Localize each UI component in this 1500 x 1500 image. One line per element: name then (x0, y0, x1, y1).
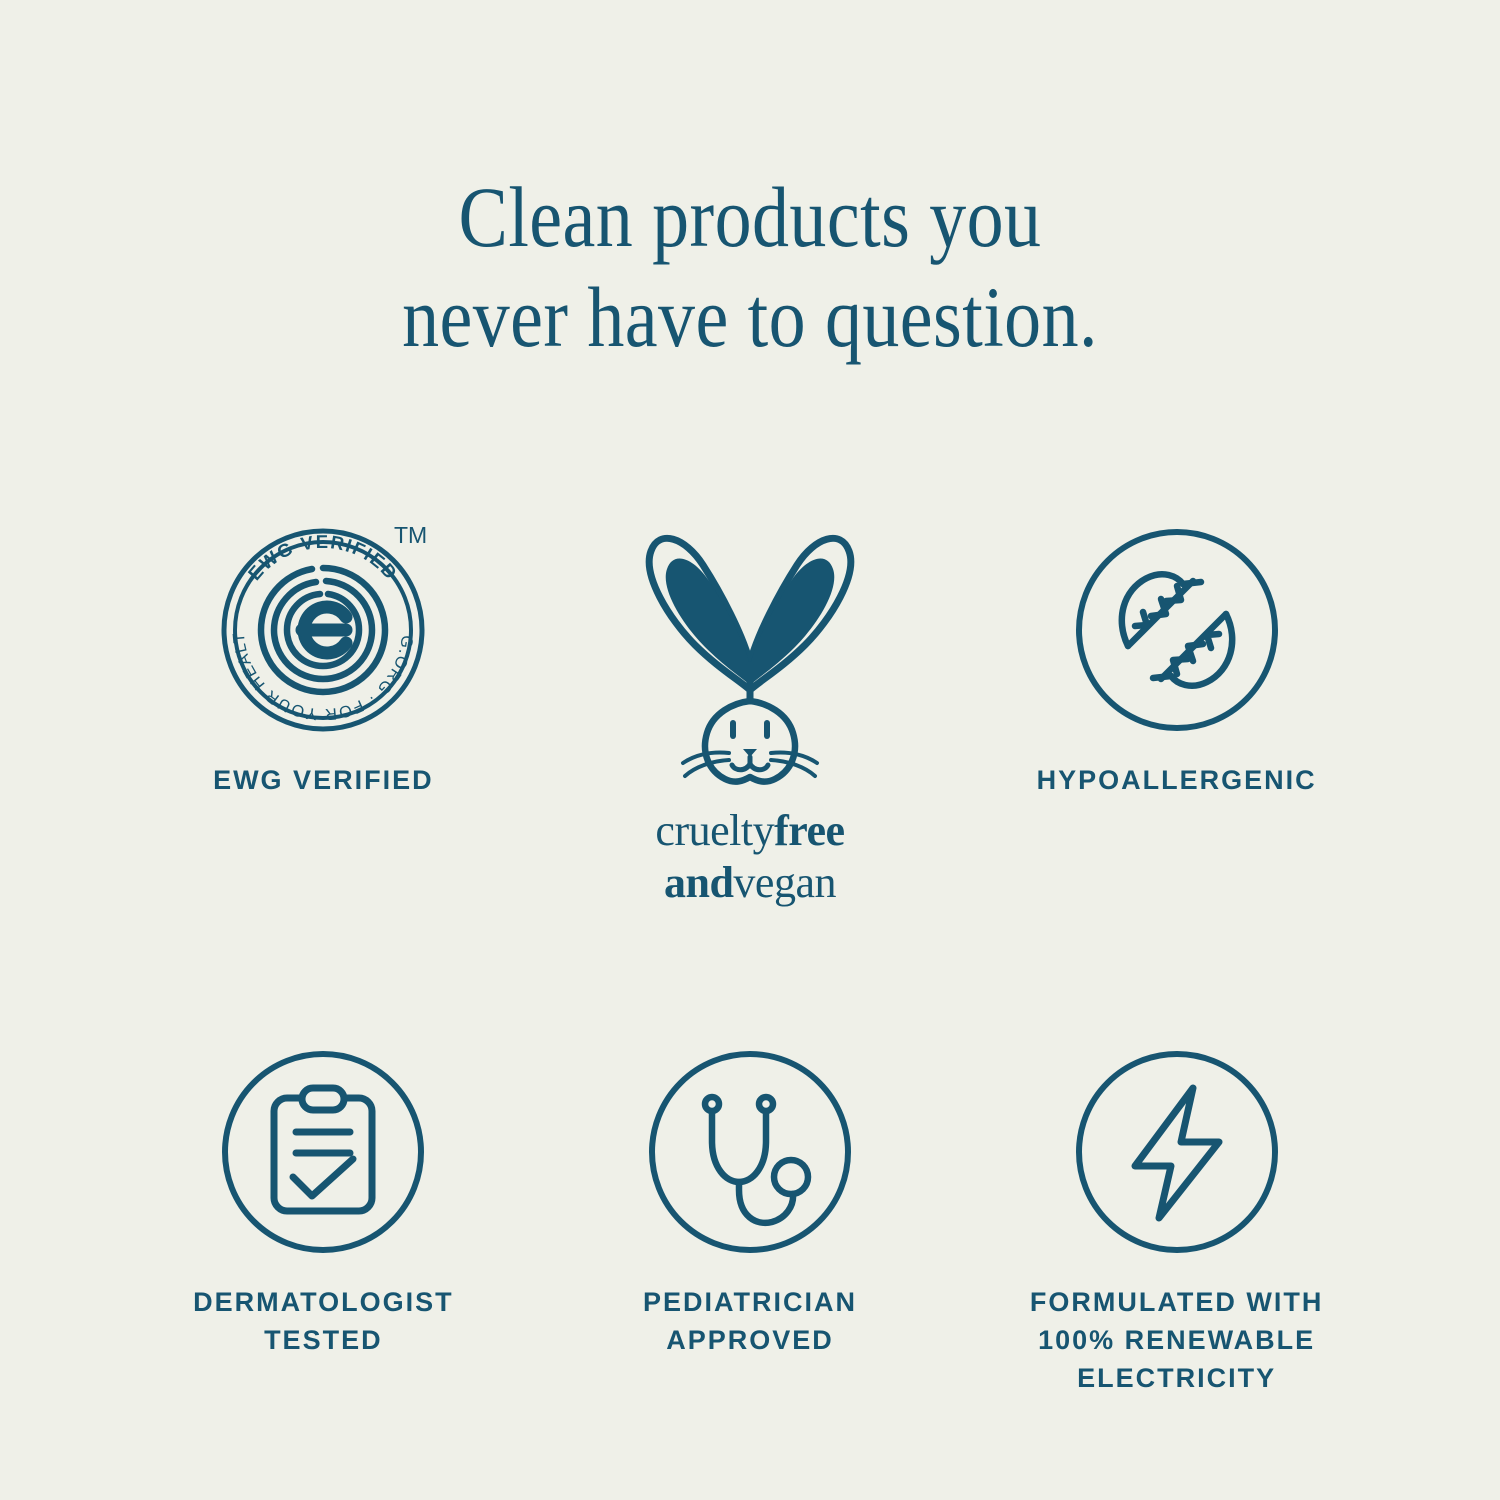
cruelty-free-wordmark: crueltyfree andvegan (655, 805, 844, 909)
ewg-verified-seal-icon: · EWG VERIFIED · EWG.ORG · FOR YOUR HEAL… (208, 505, 438, 755)
page-title: Clean products you never have to questio… (105, 168, 1395, 368)
lightning-bolt-icon (1071, 1027, 1283, 1277)
badge-label-line-1: PEDIATRICIAN (643, 1283, 857, 1321)
wordmark-vegan: vegan (733, 858, 836, 907)
wordmark-free: free (774, 806, 844, 855)
badge-cruelty-free-vegan: crueltyfree andvegan (537, 505, 964, 909)
trademark-symbol: TM (394, 522, 427, 548)
badge-label: PEDIATRICIAN APPROVED (643, 1283, 857, 1360)
two-feathers-icon (1071, 505, 1283, 755)
clean-products-claims-panel: Clean products you never have to questio… (0, 0, 1500, 1500)
badge-label-line-2: TESTED (193, 1321, 454, 1359)
badge-label-line-1: DERMATOLOGIST (193, 1283, 454, 1321)
badge-label-line-2: 100% RENEWABLE (1030, 1321, 1323, 1359)
badge-hypoallergenic: HYPOALLERGENIC (963, 505, 1390, 909)
badge-label: EWG VERIFIED (213, 761, 434, 799)
page-title-line-1: Clean products you (459, 169, 1042, 265)
badge-label-line-1: FORMULATED WITH (1030, 1283, 1323, 1321)
badge-label: FORMULATED WITH 100% RENEWABLE ELECTRICI… (1030, 1283, 1323, 1398)
badge-label: HYPOALLERGENIC (1037, 761, 1317, 799)
badge-label-line-3: ELECTRICITY (1030, 1359, 1323, 1397)
cruelty-free-bunny-icon (625, 505, 875, 805)
clipboard-checkmark-icon (217, 1027, 429, 1277)
wordmark-line-2: andvegan (655, 857, 844, 909)
stethoscope-icon (644, 1027, 856, 1277)
badge-ewg-verified: · EWG VERIFIED · EWG.ORG · FOR YOUR HEAL… (110, 505, 537, 909)
badge-dermatologist-tested: DERMATOLOGIST TESTED (110, 1027, 537, 1398)
badge-grid: · EWG VERIFIED · EWG.ORG · FOR YOUR HEAL… (110, 505, 1390, 1398)
badge-renewable-electricity: FORMULATED WITH 100% RENEWABLE ELECTRICI… (963, 1027, 1390, 1398)
wordmark-line-1: crueltyfree (655, 805, 844, 857)
svg-text:· EWG VERIFIED ·: · EWG VERIFIED · (235, 531, 413, 596)
badge-label: DERMATOLOGIST TESTED (193, 1283, 454, 1360)
wordmark-and: and (664, 858, 733, 907)
badge-pediatrician-approved: PEDIATRICIAN APPROVED (537, 1027, 964, 1398)
page-title-line-2: never have to question. (105, 268, 1395, 368)
wordmark-cruelty: cruelty (655, 806, 774, 855)
badge-label-line-2: APPROVED (643, 1321, 857, 1359)
